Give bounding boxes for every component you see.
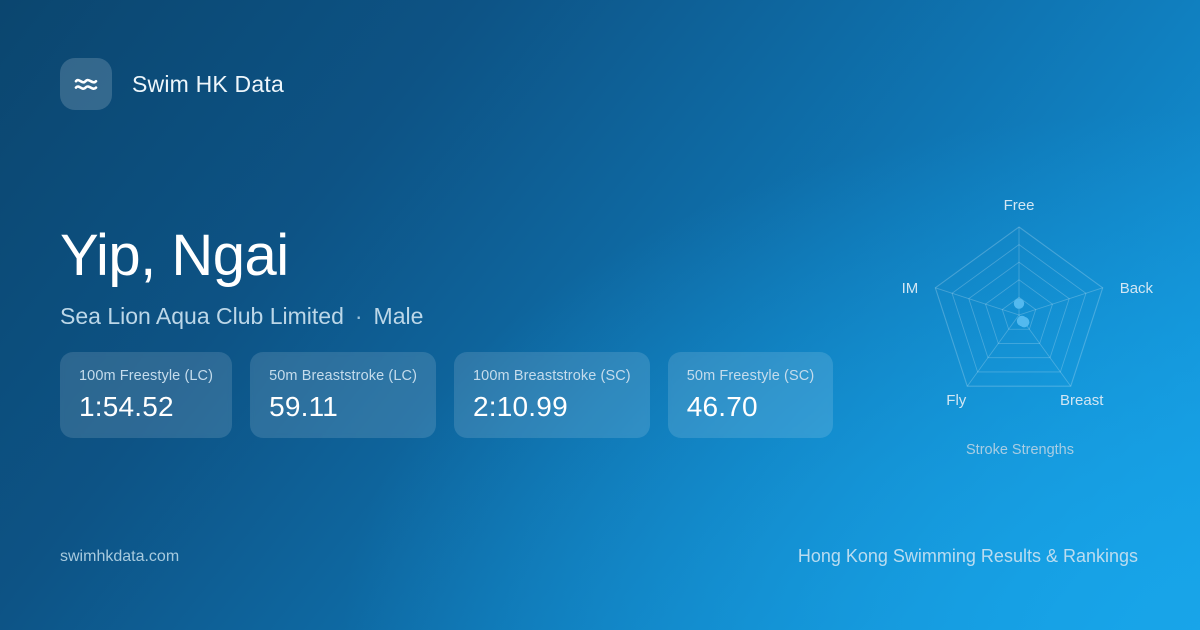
event-card-list: 100m Freestyle (LC) 1:54.52 50m Breastst… — [60, 352, 833, 438]
event-card[interactable]: 100m Freestyle (LC) 1:54.52 — [60, 352, 232, 438]
radar-axis-label-free: Free — [1004, 197, 1035, 214]
event-card[interactable]: 50m Breaststroke (LC) 59.11 — [250, 352, 436, 438]
event-label: 50m Freestyle (SC) — [687, 368, 815, 384]
radar-caption: Stroke Strengths — [868, 442, 1172, 458]
event-time: 2:10.99 — [473, 391, 631, 423]
radar-data-point — [1014, 298, 1024, 308]
event-time: 46.70 — [687, 391, 815, 423]
brand-header[interactable]: Swim HK Data — [60, 58, 284, 110]
radar-axis-label-im: IM — [902, 280, 919, 297]
wave-approx-icon — [60, 58, 112, 110]
radar-spoke — [967, 315, 1019, 386]
event-card[interactable]: 50m Freestyle (SC) 46.70 — [668, 352, 834, 438]
athlete-name: Yip, Ngai — [60, 226, 423, 287]
event-time: 59.11 — [269, 391, 417, 423]
radar-spoke — [1019, 288, 1103, 315]
footer-tagline: Hong Kong Swimming Results & Rankings — [798, 546, 1138, 567]
athlete-identity: Yip, Ngai Sea Lion Aqua Club Limited · M… — [60, 226, 423, 330]
radar-axis-label-back: Back — [1120, 280, 1154, 297]
event-label: 100m Freestyle (LC) — [79, 368, 213, 384]
event-time: 1:54.52 — [79, 391, 213, 423]
athlete-gender: Male — [374, 303, 424, 330]
event-card[interactable]: 100m Breaststroke (SC) 2:10.99 — [454, 352, 650, 438]
radar-spoke — [935, 288, 1019, 315]
radar-axis-label-breast: Breast — [1060, 392, 1104, 409]
radar-data-point — [1017, 316, 1027, 326]
stroke-strengths-radar-chart: FreeBackBreastFlyIM Stroke Strengths — [868, 168, 1172, 468]
radar-axis-label-fly: Fly — [946, 392, 966, 409]
athlete-share-card: Swim HK Data Yip, Ngai Sea Lion Aqua Clu… — [0, 0, 1200, 630]
brand-name: Swim HK Data — [132, 71, 284, 98]
event-label: 50m Breaststroke (LC) — [269, 368, 417, 384]
athlete-meta: Sea Lion Aqua Club Limited · Male — [60, 303, 423, 330]
meta-separator: · — [355, 303, 363, 330]
footer-site-url[interactable]: swimhkdata.com — [60, 548, 179, 566]
event-label: 100m Breaststroke (SC) — [473, 368, 631, 384]
athlete-club: Sea Lion Aqua Club Limited — [60, 303, 344, 330]
